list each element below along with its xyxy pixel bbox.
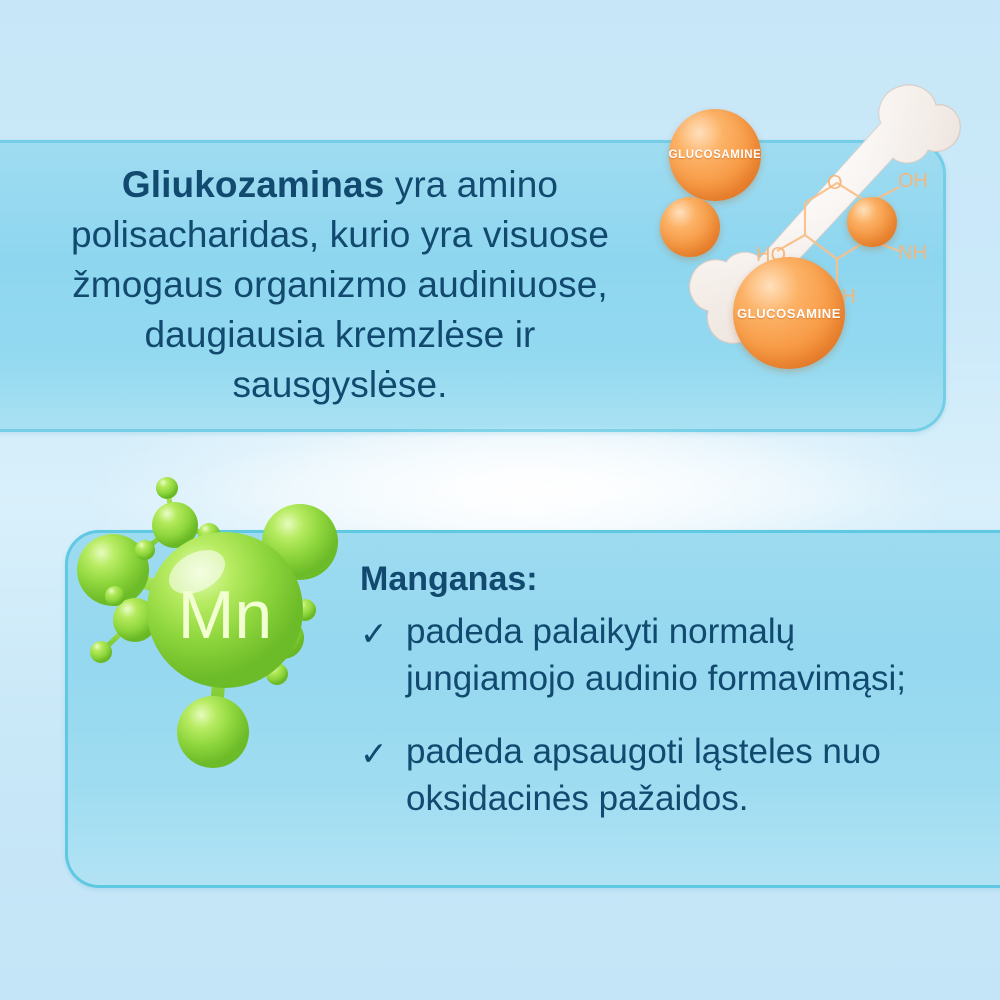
manganese-title: Manganas: bbox=[360, 560, 538, 599]
sphere-label: GLUCOSAMINE bbox=[669, 149, 762, 161]
check-icon: ✓ bbox=[360, 730, 388, 777]
chem-label-top-right: OH bbox=[898, 170, 928, 192]
list-item-text: padeda palaikyti normalų jungiamojo audi… bbox=[406, 612, 906, 698]
list-item-text: padeda apsaugoti ląsteles nuo oksidacinė… bbox=[406, 732, 881, 818]
glucosamine-sphere bbox=[660, 197, 720, 257]
mn-symbol-label: Mn bbox=[178, 577, 272, 653]
glucosamine-sphere: GLUCOSAMINE bbox=[669, 109, 761, 201]
chem-label-amine: NH bbox=[898, 242, 927, 264]
glucosamine-term: Gliukozaminas bbox=[122, 164, 384, 205]
list-item: ✓ padeda palaikyti normalų jungiamojo au… bbox=[360, 608, 940, 702]
poster-canvas: Gliukozaminas yra amino polisacharidas, … bbox=[0, 0, 1000, 1000]
list-item: ✓ padeda apsaugoti ląsteles nuo oksidaci… bbox=[360, 728, 940, 822]
chem-label-ring-oxygen: O bbox=[827, 172, 843, 194]
glucosamine-sphere: GLUCOSAMINE bbox=[733, 257, 845, 369]
manganese-benefit-list: ✓ padeda palaikyti normalų jungiamojo au… bbox=[360, 608, 940, 848]
bone-illustration: O OH HO OH NH GLUCOSAMINE GLUCOSAMINE bbox=[655, 75, 965, 385]
sphere-label: GLUCOSAMINE bbox=[737, 306, 841, 321]
manganese-illustration: Mn bbox=[55, 460, 385, 790]
glucosamine-sphere bbox=[847, 197, 897, 247]
manganese-molecule-icon: Mn bbox=[55, 460, 385, 790]
check-icon: ✓ bbox=[360, 610, 388, 657]
glucosamine-paragraph: Gliukozaminas yra amino polisacharidas, … bbox=[40, 160, 640, 410]
